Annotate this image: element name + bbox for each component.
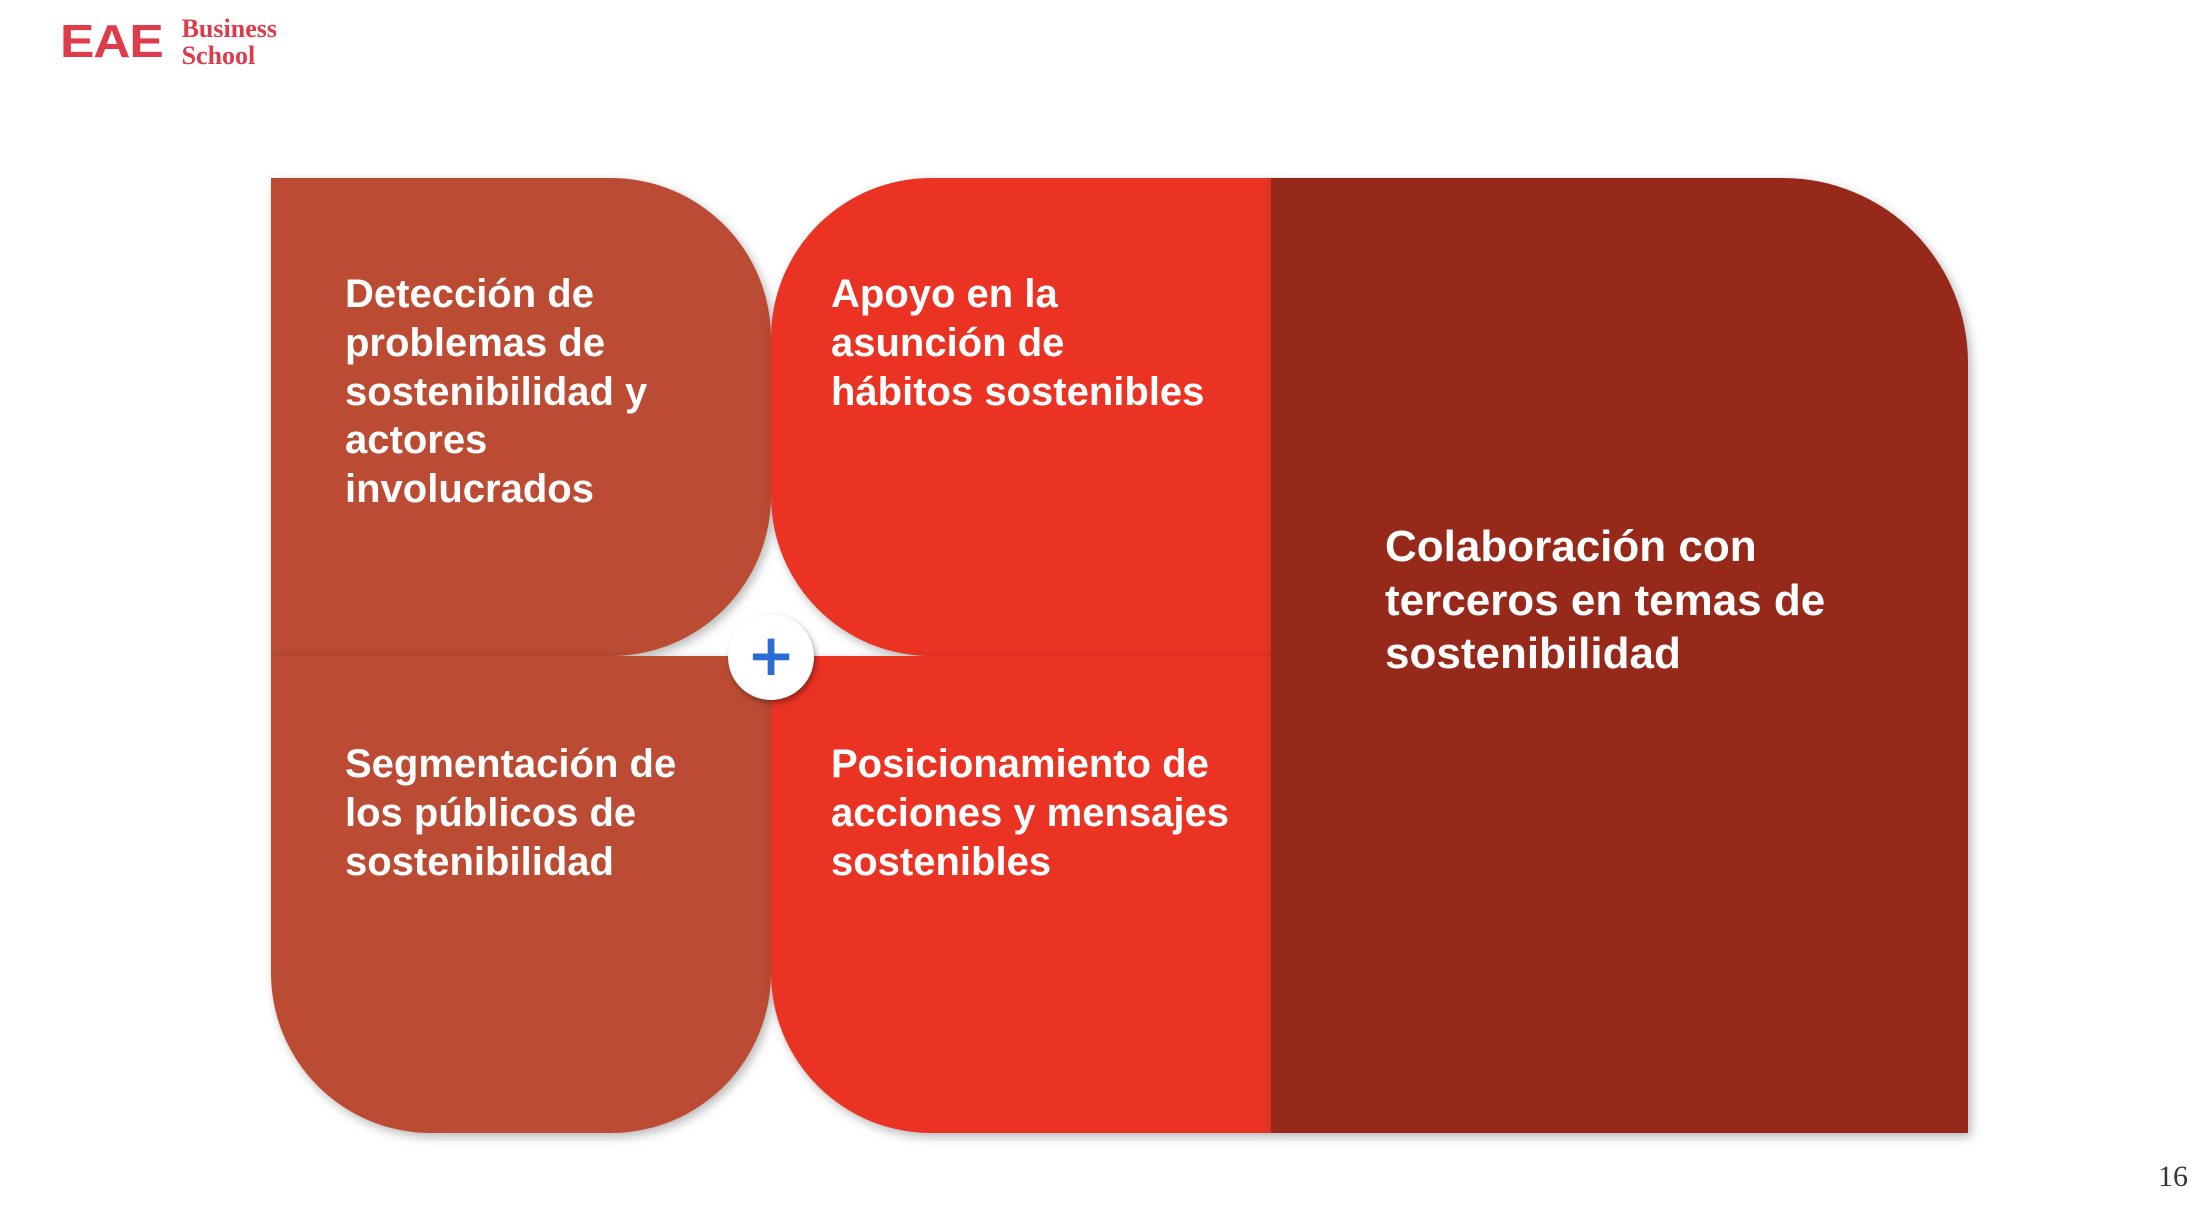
block-apoyo-habitos: Apoyo en la asunción de hábitos sostenib… xyxy=(771,178,1271,656)
block-colaboracion-label: Colaboración con terceros en temas de so… xyxy=(1385,520,1905,681)
block-posicionamiento-label: Posicionamiento de acciones y mensajes s… xyxy=(831,740,1231,886)
block-deteccion-label: Detección de problemas de sostenibilidad… xyxy=(345,270,745,514)
block-segmentacion-publicos: Segmentación de los públicos de sostenib… xyxy=(271,656,771,1133)
center-plus-badge: + xyxy=(728,614,814,700)
block-segmentacion-label: Segmentación de los públicos de sostenib… xyxy=(345,740,745,886)
page-number: 16 xyxy=(2158,1160,2188,1194)
block-deteccion-de-problemas: Detección de problemas de sostenibilidad… xyxy=(271,178,771,656)
sustainability-quadrant-diagram: Detección de problemas de sostenibilidad… xyxy=(0,0,2212,1216)
block-colaboracion-terceros: Colaboración con terceros en temas de so… xyxy=(1271,178,1968,1133)
block-posicionamiento-acciones: Posicionamiento de acciones y mensajes s… xyxy=(771,656,1271,1133)
plus-icon: + xyxy=(728,614,814,700)
block-apoyo-label: Apoyo en la asunción de hábitos sostenib… xyxy=(831,270,1211,416)
